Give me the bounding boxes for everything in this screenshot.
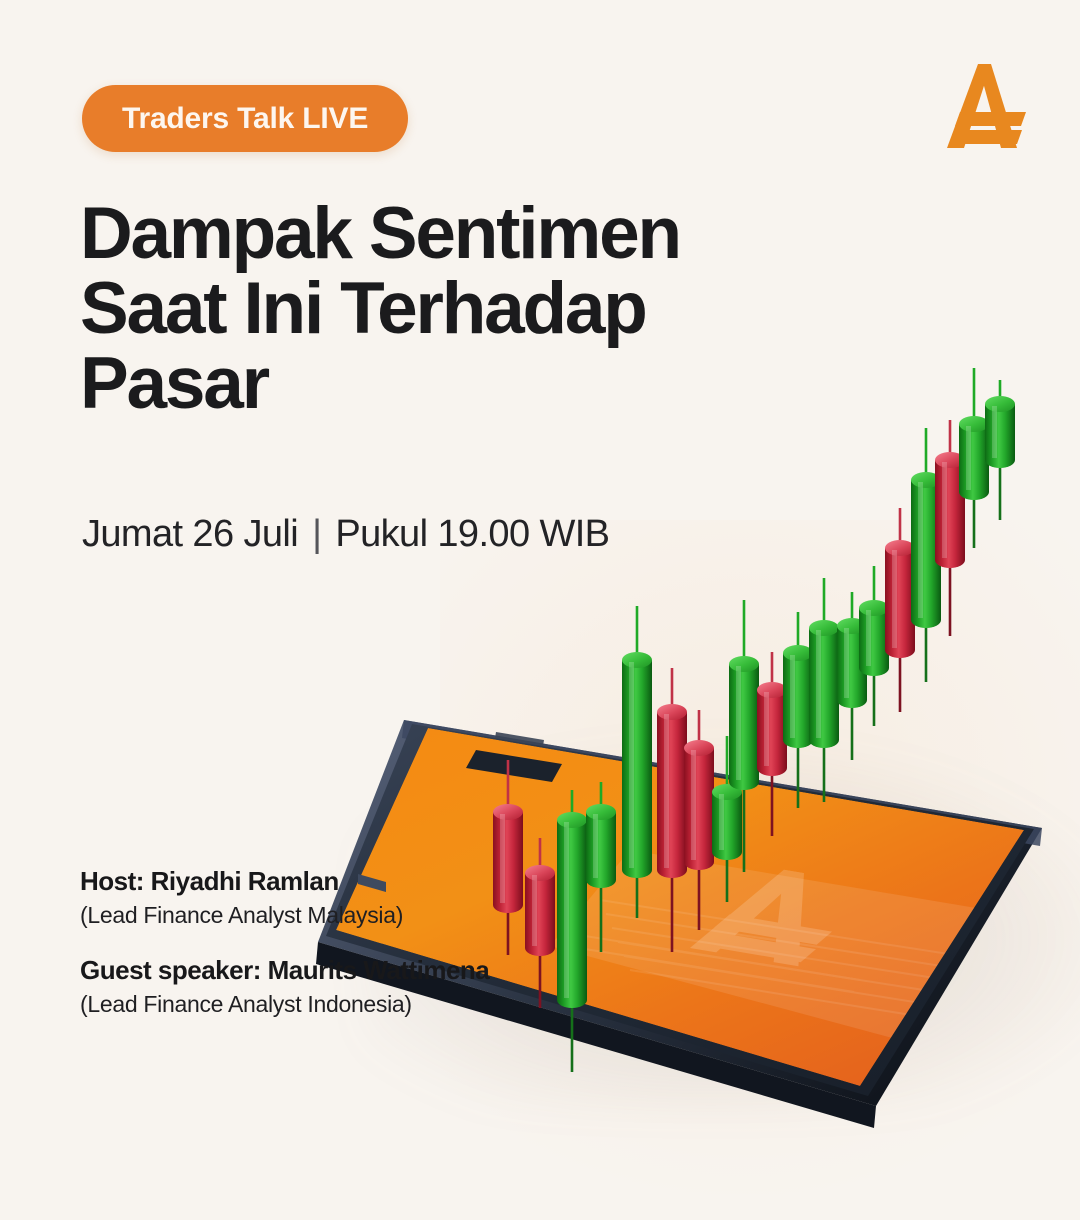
live-badge[interactable]: Traders Talk LIVE xyxy=(82,85,408,152)
candle-19 xyxy=(985,380,1015,520)
headline-line-1: Dampak Sentimen xyxy=(80,196,840,271)
guest-role: (Lead Finance Analyst Indonesia) xyxy=(80,991,489,1018)
headline-line-2: Saat Ini Terhadap xyxy=(80,271,840,346)
page-title: Dampak Sentimen Saat Ini Terhadap Pasar xyxy=(80,196,840,422)
candle-18 xyxy=(959,368,989,548)
guest-name: Guest speaker: Maurits Wattimena xyxy=(80,955,489,986)
live-badge-label: Traders Talk LIVE xyxy=(122,102,368,136)
poster-canvas: Traders Talk LIVE Dampak Sentimen Saat I… xyxy=(0,0,1080,1080)
host-role: (Lead Finance Analyst Malaysia) xyxy=(80,902,489,929)
event-schedule: Jumat 26 Juli | Pukul 19.00 WIB xyxy=(82,513,609,556)
event-date: Jumat 26 Juli xyxy=(82,513,298,556)
schedule-separator: | xyxy=(312,513,321,556)
headline-line-3: Pasar xyxy=(80,346,840,421)
guest-credit: Guest speaker: Maurits Wattimena (Lead F… xyxy=(80,955,489,1018)
credits-block: Host: Riyadhi Ramlan (Lead Finance Analy… xyxy=(80,866,489,1044)
brand-a-logo-icon xyxy=(934,56,1038,154)
host-name: Host: Riyadhi Ramlan xyxy=(80,866,489,897)
event-time: Pukul 19.00 WIB xyxy=(335,513,609,556)
host-credit: Host: Riyadhi Ramlan (Lead Finance Analy… xyxy=(80,866,489,929)
